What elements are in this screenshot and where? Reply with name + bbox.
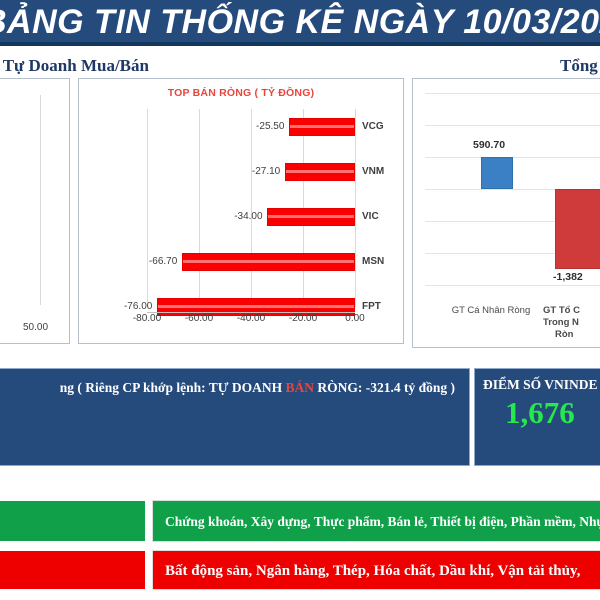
bar xyxy=(182,253,355,271)
gridline xyxy=(425,285,600,286)
sector-bar-losers-label: Bất động sản, Ngân hàng, Thép, Hóa chất,… xyxy=(153,551,600,591)
sector-bar-gainers-label: Chứng khoán, Xây dựng, Thực phẩm, Bán lẻ… xyxy=(153,501,600,543)
bar-category-label: VNM xyxy=(362,163,384,181)
vnindex-value: 1,676 xyxy=(475,395,600,431)
info-band-text: ng ( Riêng CP khớp lệnh: TỰ DOANH BÁN RÒ… xyxy=(0,377,469,399)
bar-category-label: FPT xyxy=(362,298,381,316)
gridline xyxy=(355,109,356,307)
axis-tick-label: -60.00 xyxy=(185,313,213,324)
bar-value-label: -66.70 xyxy=(110,253,180,271)
bar-row: -27.10 VNM xyxy=(147,154,355,190)
chart-title: TOP BÁN RÒNG ( TỶ ĐỒNG) xyxy=(79,87,403,99)
bar-row: -66.70 MSN xyxy=(147,244,355,280)
info-text-highlight: BÁN xyxy=(285,380,314,395)
bar xyxy=(289,118,355,136)
bar-row: -25.50 VCG xyxy=(147,109,355,145)
bar-value-label: -34.00 xyxy=(196,208,266,226)
header-underline xyxy=(0,42,600,46)
axis-tick-label: -40.00 xyxy=(237,313,265,324)
chart-plot-area: 590.70 -1,382 GT Cá Nhân Ròng GT Tổ C Tr… xyxy=(425,93,600,289)
bar-category-label: VIC xyxy=(362,208,379,226)
section-title-right: Tổng xyxy=(560,56,600,76)
info-band-vnindex: ĐIỂM SỐ VNINDE 1,676 xyxy=(474,368,600,466)
bar-category-label: MSN xyxy=(362,253,384,271)
bar-negative xyxy=(555,189,600,269)
axis-tick-label: 50.00 xyxy=(23,322,48,333)
info-text-post: RÒNG: -321.4 tỷ đồng ) xyxy=(314,380,455,395)
bar-value-label: -1,382 xyxy=(553,271,583,283)
axis-tick-label: 0.00 xyxy=(345,313,364,324)
section-title-left: Kê Tự Doanh Mua/Bán xyxy=(0,56,278,76)
green-legend-block xyxy=(0,500,146,542)
chart-panel-tong-gt-rong: 590.70 -1,382 GT Cá Nhân Ròng GT Tổ C Tr… xyxy=(412,78,600,348)
chart-panel-left-cropped: 40.60 0 50.00 xyxy=(0,78,70,344)
bar-category-label: VCG xyxy=(362,118,384,136)
axis-tick-label: -20.00 xyxy=(289,313,317,324)
bar-row: -34.00 VIC xyxy=(147,199,355,235)
page-header: BẢNG TIN THỐNG KÊ NGÀY 10/03/2026 xyxy=(0,0,600,46)
page-title: BẢNG TIN THỐNG KÊ NGÀY 10/03/2026 xyxy=(0,0,600,44)
bar-category-label-line3: Ròn xyxy=(555,329,600,341)
chart-axis-x: -80.00 -60.00 -40.00 -20.00 0.00 xyxy=(147,313,355,327)
bar-category-label: GT Cá Nhân Ròng xyxy=(429,305,553,317)
sector-bar-losers: Bất động sản, Ngân hàng, Thép, Hóa chất,… xyxy=(152,550,600,590)
bar xyxy=(285,163,355,181)
info-text-pre: ng ( Riêng CP khớp lệnh: TỰ DOANH xyxy=(60,380,286,395)
bar-value-label: -27.10 xyxy=(213,163,283,181)
bar xyxy=(267,208,355,226)
bar-value-label: -25.50 xyxy=(217,118,287,136)
axis-tick-label: -80.00 xyxy=(133,313,161,324)
bar-positive xyxy=(481,157,513,189)
gridline xyxy=(40,95,41,305)
sector-bar-gainers: Chứng khoán, Xây dựng, Thực phẩm, Bán lẻ… xyxy=(152,500,600,542)
info-band-self-trading: ng ( Riêng CP khớp lệnh: TỰ DOANH BÁN RÒ… xyxy=(0,368,470,466)
red-legend-block xyxy=(0,550,146,590)
gridline xyxy=(425,93,600,94)
chart-panel-top-ban-rong: TOP BÁN RÒNG ( TỶ ĐỒNG) -25.50 VCG -27.1… xyxy=(78,78,404,344)
gridline xyxy=(425,125,600,126)
bar-category-label-line2: Trong N xyxy=(543,317,600,329)
vnindex-label: ĐIỂM SỐ VNINDE xyxy=(475,375,600,395)
chart-plot-area: -25.50 VCG -27.10 VNM -34.00 VIC -66.70 … xyxy=(147,109,355,307)
bar-category-label-line1: GT Tổ C xyxy=(543,305,600,317)
bar-value-label: 590.70 xyxy=(473,139,505,151)
